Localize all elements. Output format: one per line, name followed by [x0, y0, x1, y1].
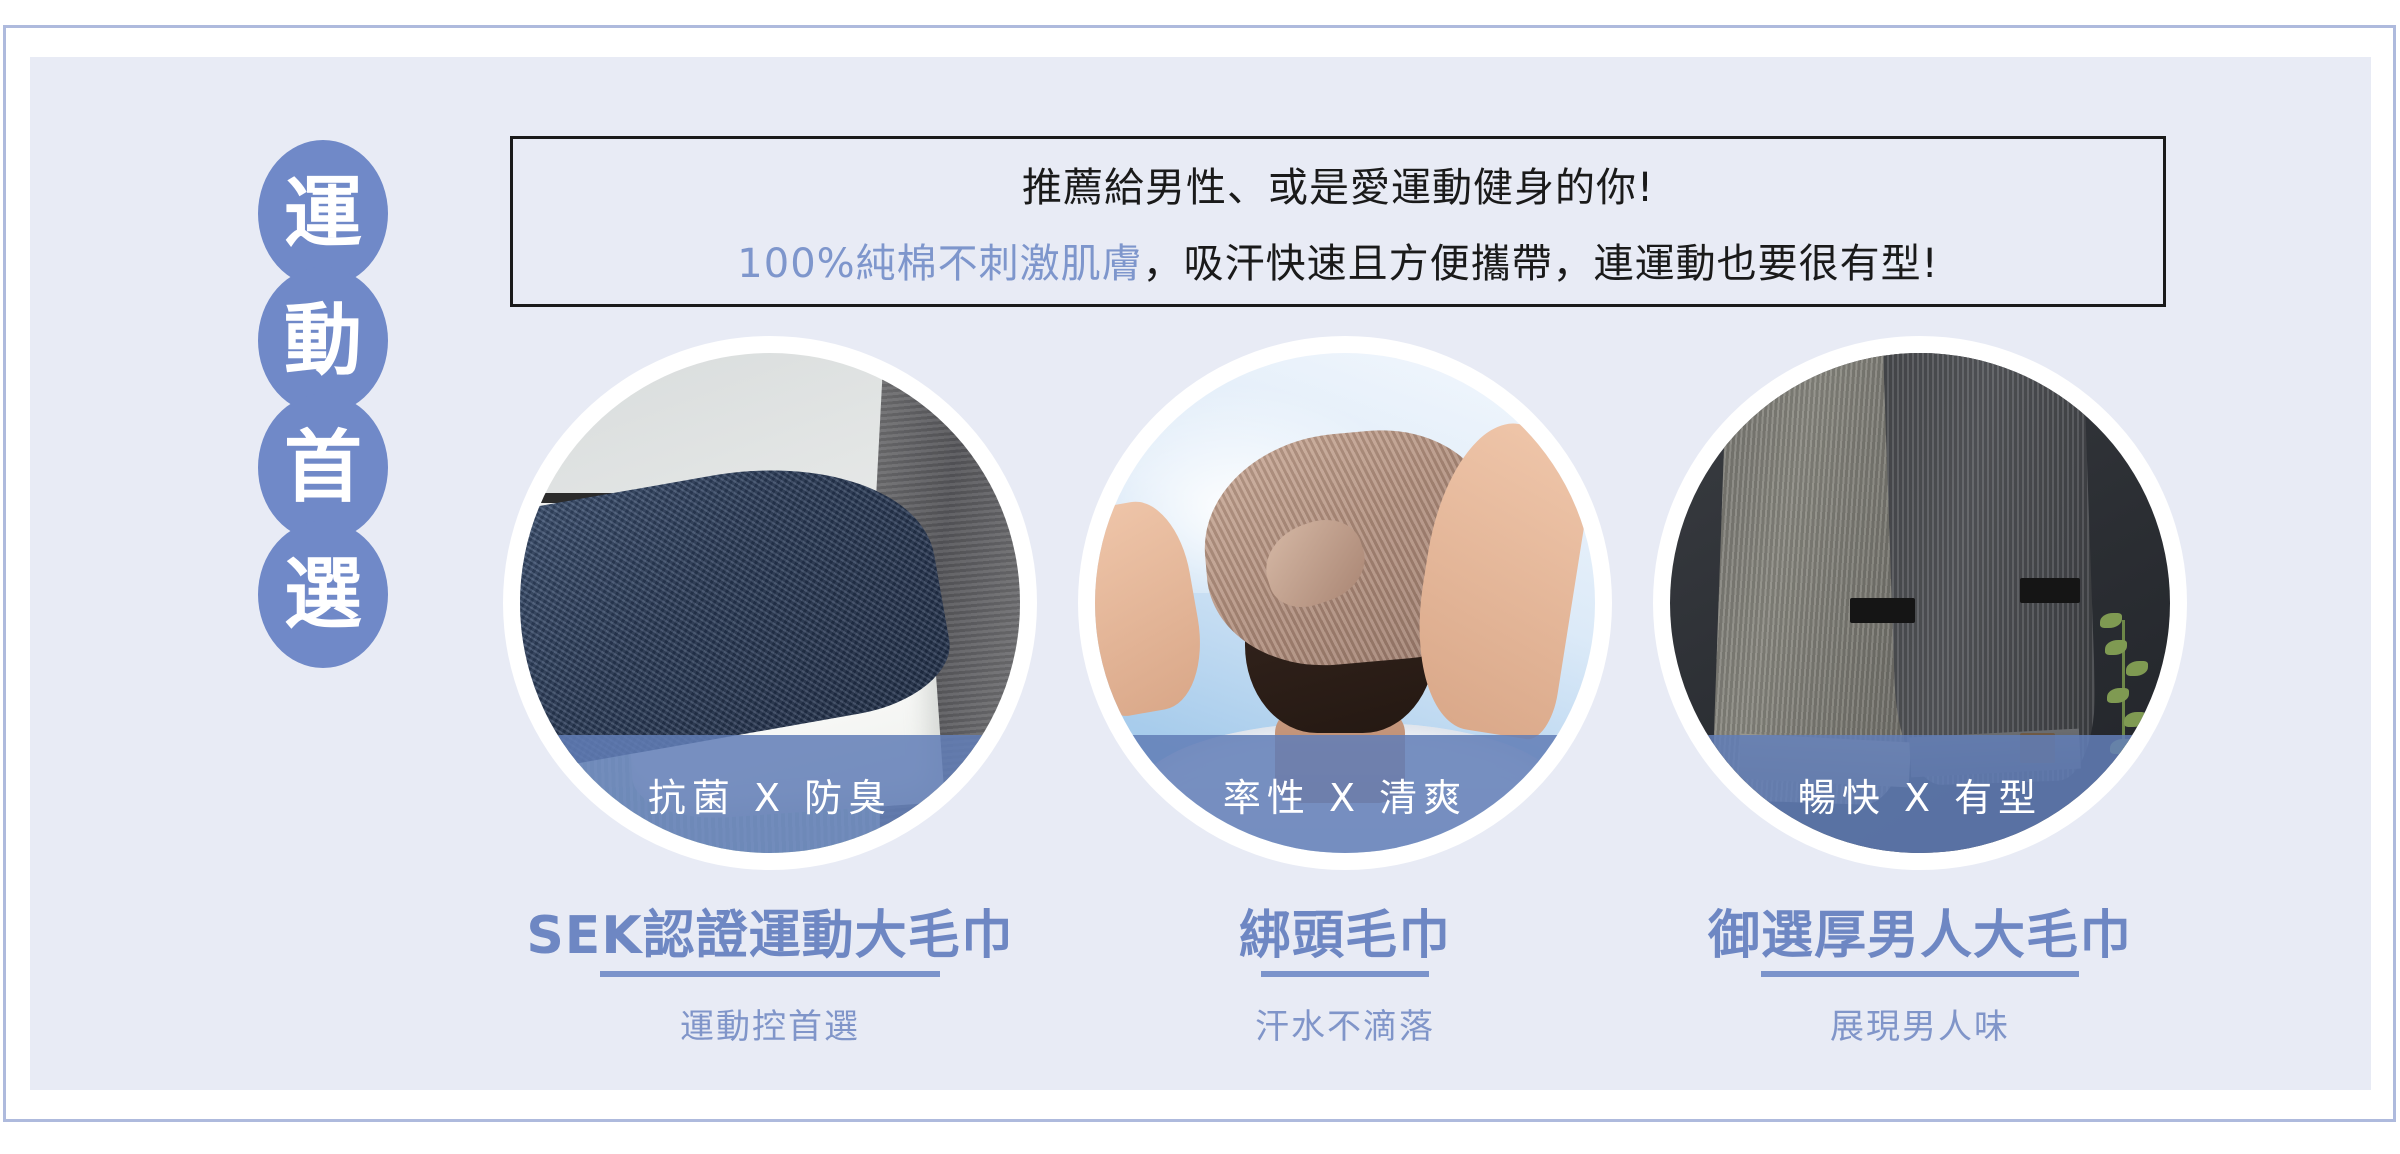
- photo-caption-1: 抗菌 X 防臭: [520, 735, 1020, 853]
- badge-char-3: 首: [284, 429, 362, 507]
- product-title-3[interactable]: 御選厚男人大毛巾: [1620, 907, 2220, 965]
- headline-line-2: 100%純棉不刺激肌膚，吸汗快速且方便攜帶，連運動也要很有型!: [737, 231, 1938, 289]
- product-card-2[interactable]: 率性 X 清爽 綁頭毛巾 汗水不滴落: [1045, 345, 1645, 1048]
- badge-char-1: 運: [284, 175, 362, 253]
- vertical-badge-column: 運 動 首 選: [258, 140, 388, 670]
- headline-line-1: 推薦給男性、或是愛運動健身的你!: [1022, 155, 1654, 213]
- product-subtitle-3: 展現男人味: [1620, 999, 2220, 1048]
- badge-char-4: 選: [284, 556, 362, 634]
- product-title-underline-1: [600, 971, 940, 977]
- badge-circle-3: 首: [258, 394, 388, 541]
- photo-caption-2: 率性 X 清爽: [1095, 735, 1595, 853]
- badge-circle-2: 動: [258, 267, 388, 414]
- product-photo-circle-2[interactable]: 率性 X 清爽: [1087, 345, 1603, 861]
- headline-rest: ，吸汗快速且方便攜帶，連運動也要很有型!: [1143, 241, 1939, 287]
- promo-banner: 運 動 首 選 推薦給男性、或是愛運動健身的你! 100%純棉不刺激肌膚，吸汗快…: [0, 0, 2400, 1154]
- photo-caption-3: 暢快 X 有型: [1670, 735, 2170, 853]
- product-photo-circle-3[interactable]: 暢快 X 有型: [1662, 345, 2178, 861]
- product-title-2[interactable]: 綁頭毛巾: [1045, 907, 1645, 965]
- product-title-underline-3: [1761, 971, 2079, 977]
- product-subtitle-1: 運動控首選: [470, 999, 1070, 1048]
- product-photo-1: RAN 抗菌 X 防臭: [520, 353, 1020, 853]
- product-card-3[interactable]: 暢快 X 有型 御選厚男人大毛巾 展現男人味: [1620, 345, 2220, 1048]
- product-title-1[interactable]: SEK認證運動大毛巾: [470, 907, 1070, 965]
- product-photo-circle-1[interactable]: RAN 抗菌 X 防臭: [512, 345, 1028, 861]
- badge-circle-4: 選: [258, 521, 388, 668]
- product-photo-2: 率性 X 清爽: [1095, 353, 1595, 853]
- badge-circle-1: 運: [258, 140, 388, 287]
- product-card-1[interactable]: RAN 抗菌 X 防臭 SEK認證運動大毛巾 運動控首選: [470, 345, 1070, 1048]
- headline-box: 推薦給男性、或是愛運動健身的你! 100%純棉不刺激肌膚，吸汗快速且方便攜帶，連…: [510, 136, 2166, 307]
- product-photo-3: 暢快 X 有型: [1670, 353, 2170, 853]
- badge-char-2: 動: [284, 302, 362, 380]
- product-title-underline-2: [1261, 971, 1429, 977]
- headline-highlight: 100%純棉不刺激肌膚: [737, 241, 1142, 287]
- product-subtitle-2: 汗水不滴落: [1045, 999, 1645, 1048]
